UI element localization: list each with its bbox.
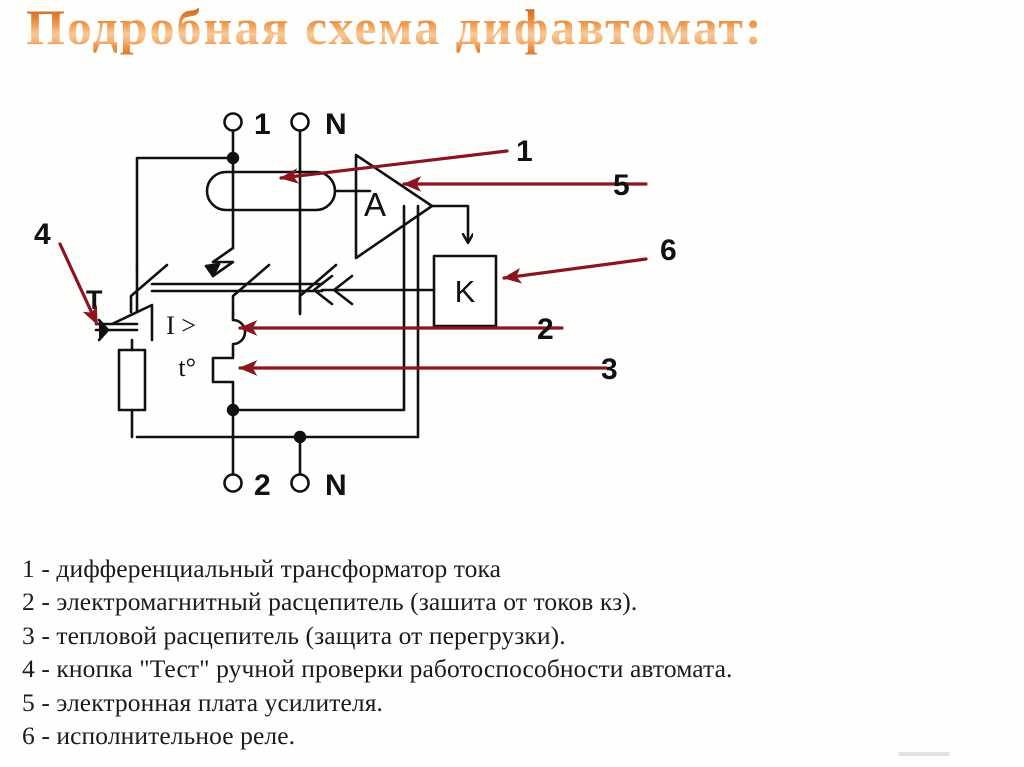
terminal-n-top-label: N bbox=[325, 108, 347, 141]
terminal-n-bottom-label: N bbox=[325, 469, 347, 502]
test-button-label: T bbox=[86, 285, 103, 315]
thermal-release bbox=[213, 354, 233, 410]
amplifier-label: A bbox=[364, 186, 386, 223]
slide-page: Подробная схема дифавтомат: bbox=[0, 0, 1024, 767]
legend-item-5: 5 - электронная плата усилителя. bbox=[22, 686, 1012, 719]
relay-label: K bbox=[455, 274, 476, 309]
callout-leader-1 bbox=[281, 151, 507, 178]
terminal-1-label: 1 bbox=[254, 108, 271, 141]
callout-number-2: 2 bbox=[537, 313, 554, 346]
main-contact-group bbox=[131, 265, 336, 314]
legend-item-2: 2 - электромагнитный расцепитель (зашита… bbox=[22, 585, 1012, 618]
terminal-n-bottom bbox=[292, 475, 309, 492]
legend-list: 1 - дифференциальный трансформатор тока … bbox=[22, 552, 1012, 752]
terminal-2 bbox=[225, 475, 242, 492]
page-artifact bbox=[898, 752, 950, 756]
callout-leader-6 bbox=[504, 259, 646, 278]
callout-number-5: 5 bbox=[613, 169, 630, 202]
test-button bbox=[96, 305, 152, 340]
legend-item-1: 1 - дифференциальный трансформатор тока bbox=[22, 552, 1012, 585]
legend-item-3: 3 - тепловой расцепитель (защита от пере… bbox=[22, 619, 1012, 652]
circuit-diagram-svg: A K bbox=[0, 62, 1024, 502]
callout-number-4: 4 bbox=[34, 218, 51, 251]
page-title: Подробная схема дифавтомат: bbox=[26, 0, 764, 56]
test-resistor bbox=[119, 340, 145, 437]
differential-current-transformer bbox=[207, 172, 335, 210]
slide-title-bar: Подробная схема дифавтомат: bbox=[0, 0, 1024, 62]
amplifier-to-relay-wire bbox=[432, 206, 468, 242]
transformer-tap-symbol bbox=[206, 248, 233, 276]
callout-number-6: 6 bbox=[660, 234, 677, 267]
terminal-n-top bbox=[292, 114, 309, 173]
callout-number-1: 1 bbox=[516, 135, 533, 168]
electromagnetic-release-label: I > bbox=[166, 311, 196, 340]
terminal-2-label: 2 bbox=[254, 469, 271, 502]
legend-item-6: 6 - исполнительное реле. bbox=[22, 719, 1012, 752]
circuit-diagram: A K bbox=[0, 62, 1024, 502]
legend-item-4: 4 - кнопка "Тест" ручной проверки работо… bbox=[22, 652, 1012, 685]
electromagnetic-release bbox=[233, 314, 245, 354]
terminal-1 bbox=[225, 114, 242, 159]
callout-number-3: 3 bbox=[601, 353, 618, 386]
thermal-release-label: t° bbox=[178, 353, 196, 382]
callout-leader-4 bbox=[60, 244, 97, 324]
